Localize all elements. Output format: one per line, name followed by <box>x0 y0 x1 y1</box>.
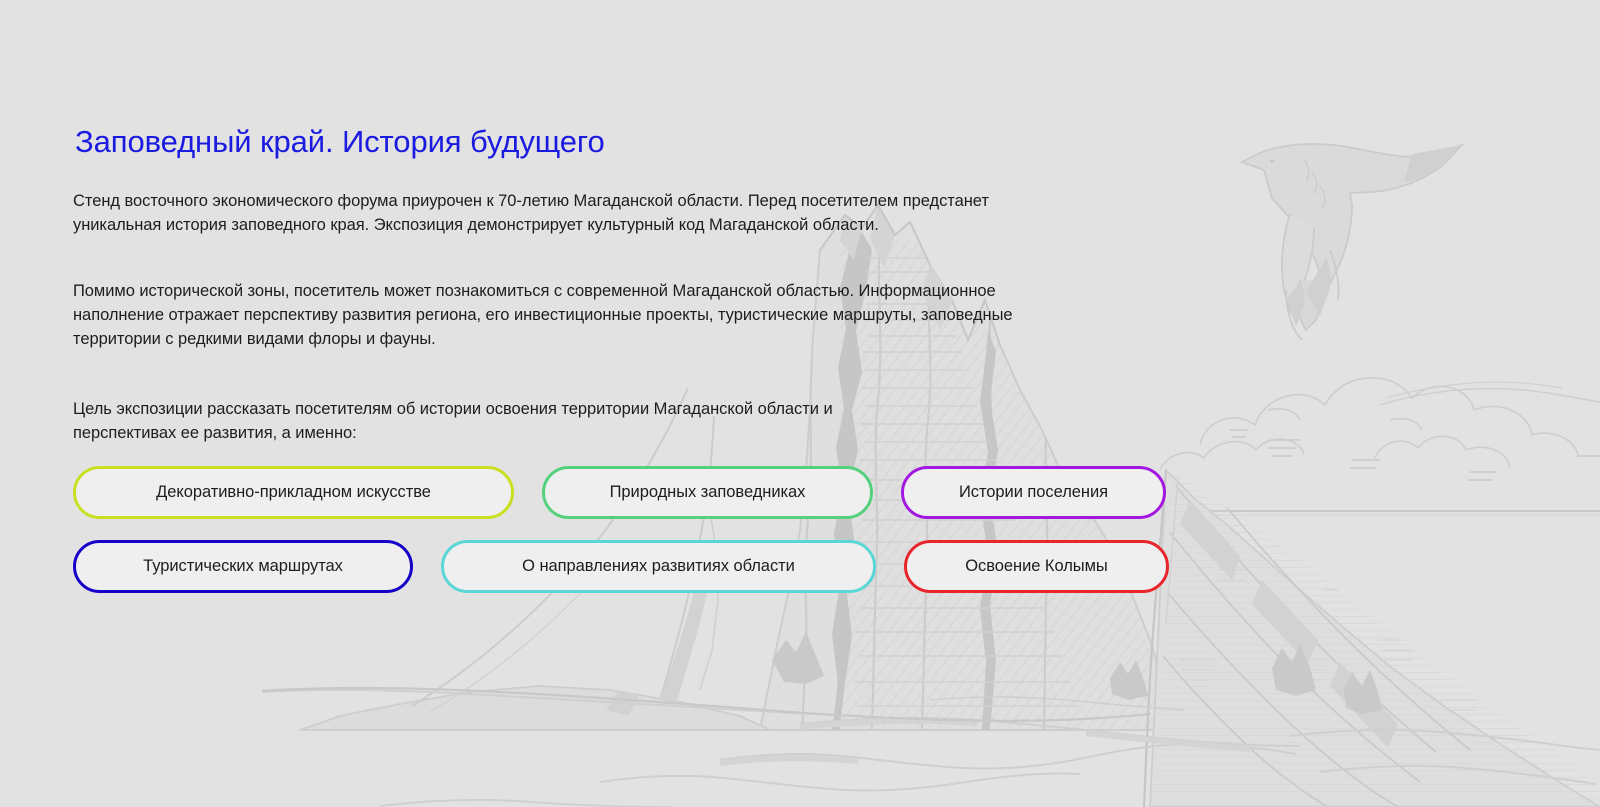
seagull-wing-shadow <box>1286 145 1462 326</box>
topic-pill-development-directions[interactable]: О направлениях развитиях области <box>441 540 876 593</box>
intro-paragraph-1: Стенд восточного экономического форума п… <box>73 189 993 237</box>
topic-pill-nature-reserves[interactable]: Природных заповедниках <box>542 466 873 519</box>
right-ridge <box>1140 460 1600 807</box>
topic-pill-label: Истории поселения <box>959 483 1108 502</box>
intro-paragraph-3: Цель экспозиции рассказать посетителям о… <box>73 397 873 445</box>
waterline-rocks <box>772 632 1382 714</box>
topic-pill-tourist-routes[interactable]: Туристических маршрутах <box>73 540 413 593</box>
intro-paragraph-2: Помимо исторической зоны, посетитель мож… <box>73 279 1023 351</box>
topic-pill-label: Декоративно-прикладном искусстве <box>156 483 431 502</box>
topic-pill-kolyma-development[interactable]: Освоение Колымы <box>904 540 1169 593</box>
topic-pill-label: Освоение Колымы <box>965 557 1107 576</box>
seagull-illustration <box>1242 144 1462 340</box>
sea-ripple-shadows <box>720 718 1250 766</box>
cloud-shapes <box>1160 378 1600 480</box>
topic-pill-settlement-history[interactable]: Истории поселения <box>901 466 1166 519</box>
topic-pill-label: Природных заповедниках <box>610 483 806 502</box>
page-title: Заповедный край. История будущего <box>75 124 605 160</box>
topic-pill-row-2: Туристических маршрутах О направлениях р… <box>73 540 1173 593</box>
topic-pill-decorative-arts[interactable]: Декоративно-прикладном искусстве <box>73 466 514 519</box>
topic-pill-grid: Декоративно-прикладном искусстве Природн… <box>73 466 1173 593</box>
topic-pill-label: О направлениях развитиях области <box>522 557 795 576</box>
sea-ripples <box>262 690 1600 807</box>
topic-pill-row-1: Декоративно-прикладном искусстве Природн… <box>73 466 1173 519</box>
topic-pill-label: Туристических маршрутах <box>143 557 343 576</box>
shoreline <box>262 688 1150 721</box>
